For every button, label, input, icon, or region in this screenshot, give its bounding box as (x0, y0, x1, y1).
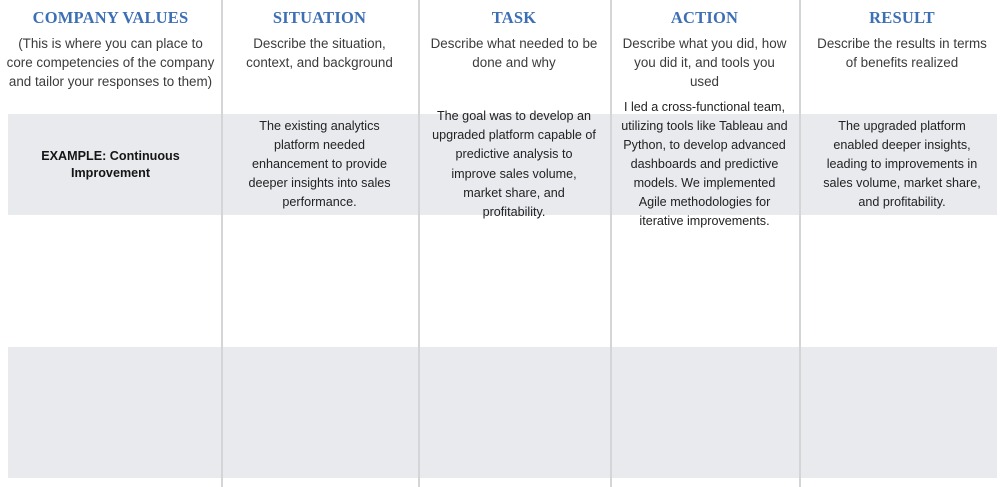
table-tail-task (418, 478, 610, 487)
column-action: ACTION Describe what you did, how you di… (610, 0, 799, 487)
column-header-result: RESULT Describe the results in terms of … (799, 0, 1005, 114)
column-header-situation: SITUATION Describe the situation, contex… (221, 0, 418, 114)
table-tail-situation (221, 478, 418, 487)
column-header-company-values: COMPANY VALUES (This is where you can pl… (0, 0, 221, 114)
example-text-task: The goal was to develop an upgraded plat… (432, 107, 596, 222)
table-cell-blank1-action[interactable] (610, 215, 799, 347)
column-header-task: TASK Describe what needed to be done and… (418, 0, 610, 114)
column-subtitle-company-values: (This is where you can place to core com… (6, 34, 215, 91)
column-task: TASK Describe what needed to be done and… (418, 0, 610, 487)
table-tail-action (610, 478, 799, 487)
column-title-situation: SITUATION (233, 8, 406, 29)
column-subtitle-result: Describe the results in terms of benefit… (811, 34, 993, 72)
table-cell-blank2-company-values[interactable] (0, 347, 221, 478)
table-cell-blank2-result[interactable] (799, 347, 1005, 478)
column-subtitle-situation: Describe the situation, context, and bac… (233, 34, 406, 72)
table-cell-blank2-situation[interactable] (221, 347, 418, 478)
table-cell-blank1-task[interactable] (418, 215, 610, 347)
example-label: EXAMPLE: Continuous Improvement (14, 148, 207, 182)
column-subtitle-task: Describe what needed to be done and why (430, 34, 598, 72)
table-cell-example-company-values[interactable]: EXAMPLE: Continuous Improvement (0, 114, 221, 215)
table-cell-example-action[interactable]: I led a cross-functional team, utilizing… (610, 114, 799, 215)
table-cell-blank2-task[interactable] (418, 347, 610, 478)
table-cell-blank1-company-values[interactable] (0, 215, 221, 347)
example-text-action: I led a cross-functional team, utilizing… (619, 98, 790, 232)
table-cell-example-task[interactable]: The goal was to develop an upgraded plat… (418, 114, 610, 215)
columns-grid: COMPANY VALUES (This is where you can pl… (0, 0, 1005, 487)
column-title-company-values: COMPANY VALUES (6, 8, 215, 29)
table-tail-result (799, 478, 1005, 487)
column-title-result: RESULT (811, 8, 993, 29)
table-tail-company-values (0, 478, 221, 487)
column-situation: SITUATION Describe the situation, contex… (221, 0, 418, 487)
column-title-task: TASK (430, 8, 598, 29)
table-cell-blank1-result[interactable] (799, 215, 1005, 347)
column-title-action: ACTION (622, 8, 787, 29)
table-cell-blank1-situation[interactable] (221, 215, 418, 347)
table-cell-example-result[interactable]: The upgraded platform enabled deeper ins… (799, 114, 1005, 215)
table-cell-example-situation[interactable]: The existing analytics platform needed e… (221, 114, 418, 215)
column-subtitle-action: Describe what you did, how you did it, a… (622, 34, 787, 91)
column-company-values: COMPANY VALUES (This is where you can pl… (0, 0, 221, 487)
table-cell-blank2-action[interactable] (610, 347, 799, 478)
example-text-result: The upgraded platform enabled deeper ins… (815, 117, 989, 213)
worksheet-table: COMPANY VALUES (This is where you can pl… (0, 0, 1005, 487)
example-text-situation: The existing analytics platform needed e… (235, 117, 404, 213)
column-result: RESULT Describe the results in terms of … (799, 0, 1005, 487)
